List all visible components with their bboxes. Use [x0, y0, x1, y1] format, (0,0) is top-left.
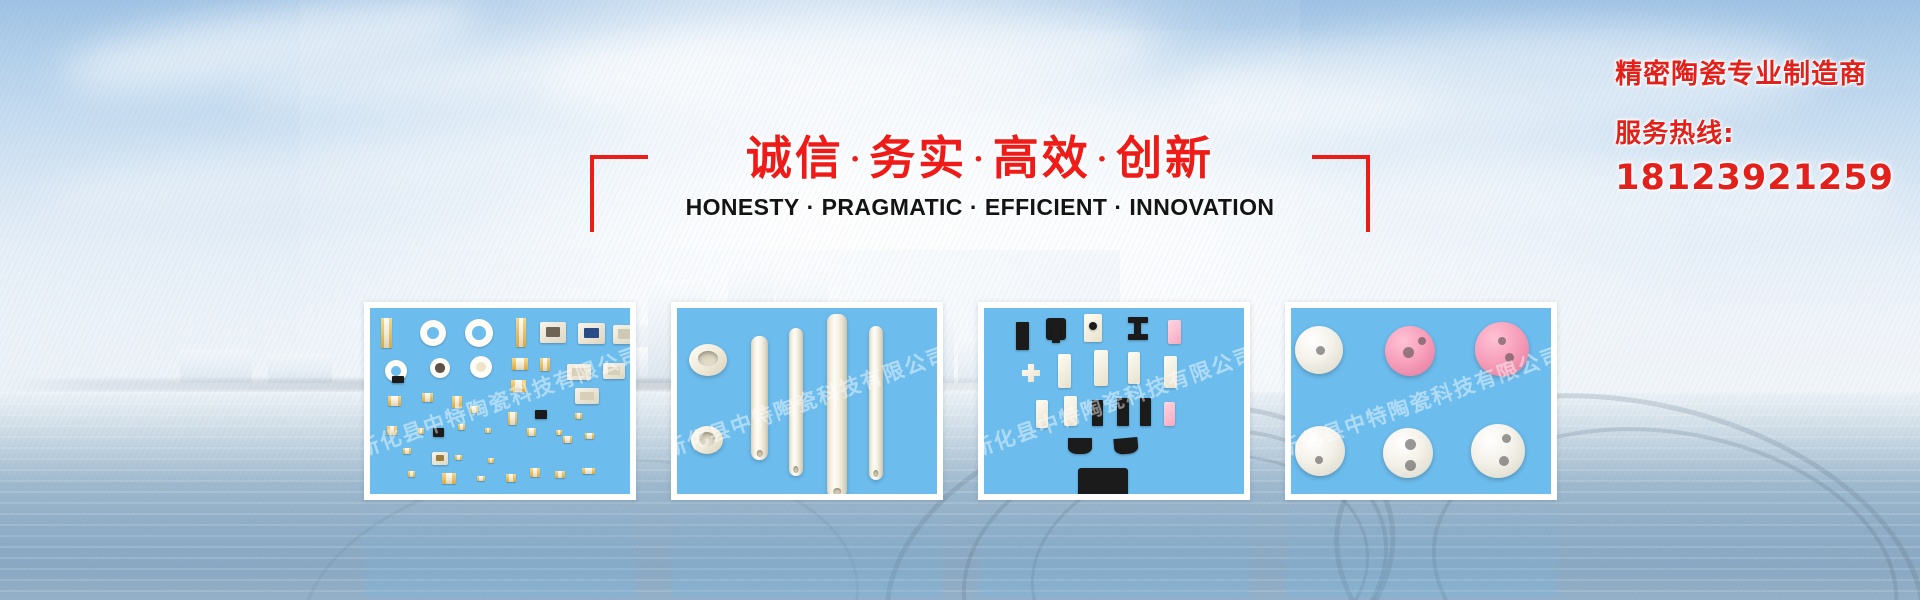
hotline-label: 服务热线:	[1615, 113, 1894, 150]
product-part	[1295, 326, 1343, 374]
product-part	[516, 318, 526, 347]
product-part	[555, 471, 565, 478]
product-part	[1383, 428, 1433, 478]
product-part	[432, 452, 448, 465]
product-part	[540, 322, 566, 343]
product-part	[1168, 320, 1181, 344]
product-part	[563, 436, 572, 443]
product-part	[1164, 356, 1177, 388]
contact-block: 精密陶瓷专业制造商 服务热线: 18123921259	[1615, 52, 1894, 198]
product-part	[540, 358, 550, 371]
product-part	[751, 336, 768, 460]
slogan-block: 诚信·务实·高效·创新 HONESTY·PRAGMATIC·EFFICIENT·…	[590, 128, 1370, 236]
product-part	[1128, 352, 1140, 384]
product-part	[433, 428, 444, 437]
product-panel-row: 新化县中特陶瓷科技有限公司 新化县中特陶瓷科技有限公司	[364, 302, 1594, 500]
product-part	[689, 344, 727, 376]
product-part	[506, 474, 516, 482]
product-part	[1295, 426, 1345, 476]
product-part	[418, 428, 424, 434]
slogan-en-word-2: PRAGMATIC	[822, 194, 963, 220]
product-part	[1089, 322, 1097, 330]
product-part	[455, 455, 462, 460]
product-part	[388, 396, 401, 406]
slogan-cn-word-1: 诚信	[746, 131, 844, 185]
product-part	[1036, 400, 1048, 428]
product-photo-3: 新化县中特陶瓷科技有限公司	[984, 308, 1244, 494]
product-part	[422, 393, 433, 402]
product-part	[1475, 322, 1529, 376]
product-part	[556, 430, 562, 435]
product-part	[1094, 350, 1108, 386]
product-part	[512, 358, 528, 370]
product-part	[458, 424, 465, 430]
company-tagline: 精密陶瓷专业制造商	[1615, 52, 1894, 91]
slogan-en-separator: ·	[1114, 194, 1122, 220]
product-part	[575, 413, 582, 419]
slogan-en-separator: ·	[970, 194, 978, 220]
product-part	[442, 473, 456, 484]
product-part	[1068, 438, 1092, 454]
product-part	[1134, 321, 1141, 335]
promo-banner: 诚信·务实·高效·创新 HONESTY·PRAGMATIC·EFFICIENT·…	[0, 0, 1920, 600]
slogan-cn-separator: ·	[973, 142, 986, 177]
product-part	[691, 426, 723, 454]
slogan-cn-separator: ·	[850, 142, 863, 177]
product-part	[827, 314, 847, 494]
slogan-english: HONESTY·PRAGMATIC·EFFICIENT·INNOVATION	[590, 194, 1370, 221]
product-part	[1117, 398, 1129, 426]
product-part	[1064, 396, 1077, 426]
product-part	[392, 376, 404, 383]
product-part	[1471, 424, 1525, 478]
product-photo-4: 新化县中特陶瓷科技有限公司	[1291, 308, 1551, 494]
product-part	[430, 358, 450, 378]
product-part	[1078, 468, 1128, 494]
product-part	[488, 458, 494, 463]
product-part	[452, 396, 462, 408]
product-part	[511, 380, 526, 392]
slogan-en-word-1: HONESTY	[686, 194, 800, 220]
product-photo-2: 新化县中特陶瓷科技有限公司	[677, 308, 937, 494]
product-part	[387, 426, 397, 435]
product-part	[1052, 329, 1060, 343]
product-part	[527, 428, 536, 436]
product-part	[578, 323, 605, 344]
product-part	[869, 326, 883, 480]
product-part	[1022, 364, 1040, 382]
product-part	[603, 363, 625, 379]
product-part	[1164, 402, 1175, 426]
slogan-cn-word-4: 创新	[1116, 131, 1214, 185]
product-part	[530, 468, 540, 477]
slogan-cn-word-3: 高效	[993, 131, 1091, 185]
product-part	[1113, 437, 1138, 455]
product-part	[613, 325, 630, 344]
product-panel-ceramic-valve-discs[interactable]: 新化县中特陶瓷科技有限公司	[1285, 302, 1557, 500]
product-part	[575, 388, 599, 404]
product-part	[508, 412, 517, 425]
product-part	[1058, 354, 1071, 388]
product-part	[470, 406, 478, 413]
product-part	[465, 319, 493, 347]
product-part	[1385, 326, 1435, 376]
product-panel-smd-ceramic-components[interactable]: 新化县中特陶瓷科技有限公司	[364, 302, 636, 500]
product-part	[585, 433, 594, 439]
product-part	[1016, 322, 1029, 350]
slogan-en-word-4: INNOVATION	[1129, 194, 1274, 220]
product-part	[1140, 398, 1151, 426]
product-part	[470, 356, 492, 378]
product-panel-ceramic-rods-and-rings[interactable]: 新化县中特陶瓷科技有限公司	[671, 302, 943, 500]
cloud-wisp	[239, 23, 762, 122]
product-part	[1128, 334, 1148, 340]
product-part	[789, 328, 803, 476]
product-part	[477, 476, 485, 481]
hotline-phone-number[interactable]: 18123921259	[1615, 158, 1894, 198]
product-part	[403, 448, 411, 454]
product-photo-1: 新化县中特陶瓷科技有限公司	[370, 308, 630, 494]
product-part	[567, 364, 591, 380]
product-part	[485, 428, 491, 433]
product-part	[582, 468, 595, 474]
slogan-en-word-3: EFFICIENT	[985, 194, 1107, 220]
slogan-cn-separator: ·	[1097, 142, 1110, 177]
slogan-chinese: 诚信·务实·高效·创新	[590, 122, 1370, 188]
product-panel-ceramic-blocks-and-arcs[interactable]: 新化县中特陶瓷科技有限公司	[978, 302, 1250, 500]
product-part	[1092, 400, 1103, 426]
product-part	[381, 318, 392, 348]
cloud-wisp	[538, 0, 1163, 134]
cloud-wisp	[57, 0, 483, 109]
product-part	[535, 410, 547, 419]
slogan-en-separator: ·	[807, 194, 815, 220]
product-part	[420, 320, 446, 346]
product-part	[408, 471, 415, 477]
slogan-cn-word-2: 务实	[869, 131, 967, 185]
cloud-wisp	[38, 113, 562, 231]
